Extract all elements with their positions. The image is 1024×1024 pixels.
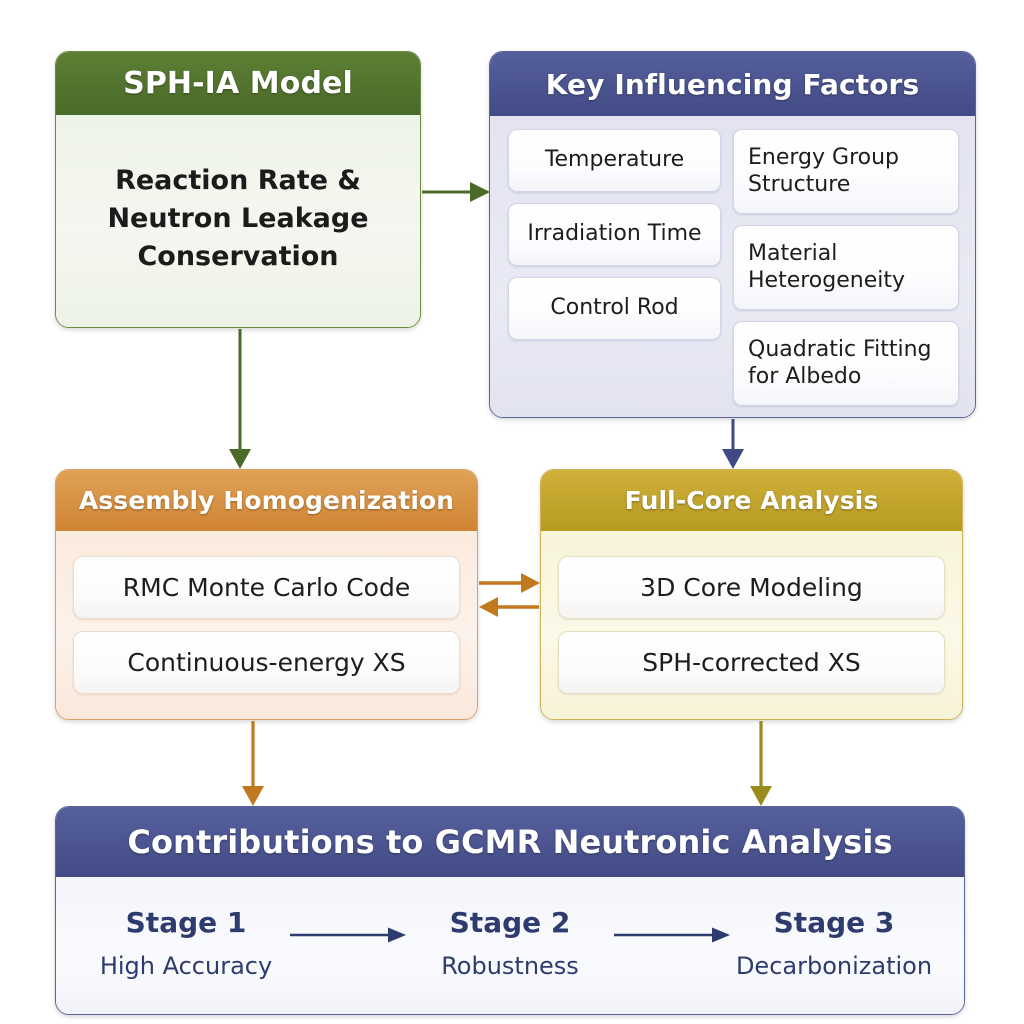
contributions-header: Contributions to GCMR Neutronic Analysis xyxy=(56,807,964,877)
key-influencing-factors-header: Key Influencing Factors xyxy=(490,52,975,116)
factor-chip-quadratic-fitting-for-albedo[interactable]: Quadratic Fitting for Albedo xyxy=(733,321,959,406)
sph-ia-model-body: Reaction Rate & Neutron Leakage Conserva… xyxy=(56,115,420,328)
connector-sph-to-assembly xyxy=(229,329,251,469)
contributions-body: Stage 1 High Accuracy Stage 2 Robustness xyxy=(56,877,964,1015)
stage-2-subtitle: Robustness xyxy=(441,953,579,979)
stage-block-3: Stage 3 Decarbonization xyxy=(734,908,934,979)
assembly-homogenization-card: Assembly Homogenization RMC Monte Carlo … xyxy=(55,469,478,720)
stage-3-title: Stage 3 xyxy=(774,908,895,939)
sph-ia-model-card: SPH-IA Model Reaction Rate & Neutron Lea… xyxy=(55,51,421,328)
stage-sequence: Stage 1 High Accuracy Stage 2 Robustness xyxy=(86,908,934,979)
key-influencing-factors-body: Temperature Irradiation Time Control Rod… xyxy=(490,116,975,418)
stage-block-1: Stage 1 High Accuracy xyxy=(86,908,286,979)
full-core-analysis-body: 3D Core Modeling SPH-corrected XS xyxy=(541,531,962,720)
sph-ia-model-body-text: Reaction Rate & Neutron Leakage Conserva… xyxy=(107,162,368,277)
stage-2-title: Stage 2 xyxy=(450,908,571,939)
key-factors-left-column: Temperature Irradiation Time Control Rod xyxy=(508,129,721,407)
factor-chip-temperature[interactable]: Temperature xyxy=(508,129,721,192)
connector-full-core-to-contributions xyxy=(750,721,772,806)
full-core-analysis-header: Full-Core Analysis xyxy=(541,470,962,531)
arrow-right-icon xyxy=(612,923,732,947)
assembly-homogenization-header: Assembly Homogenization xyxy=(56,470,477,531)
assembly-item-continuous-energy-xs[interactable]: Continuous-energy XS xyxy=(73,631,460,694)
assembly-item-rmc-monte-carlo-code[interactable]: RMC Monte Carlo Code xyxy=(73,556,460,619)
sph-ia-model-header: SPH-IA Model xyxy=(56,52,420,115)
connector-assembly-to-contributions xyxy=(242,721,264,806)
stage-1-title: Stage 1 xyxy=(126,908,247,939)
diagram-canvas: SPH-IA Model Reaction Rate & Neutron Lea… xyxy=(0,0,1024,1024)
factor-chip-irradiation-time[interactable]: Irradiation Time xyxy=(508,203,721,266)
full-core-analysis-card: Full-Core Analysis 3D Core Modeling SPH-… xyxy=(540,469,963,720)
arrow-right-icon xyxy=(288,923,408,947)
full-core-item-sph-corrected-xs[interactable]: SPH-corrected XS xyxy=(558,631,945,694)
key-influencing-factors-card: Key Influencing Factors Temperature Irra… xyxy=(489,51,976,418)
full-core-item-3d-core-modeling[interactable]: 3D Core Modeling xyxy=(558,556,945,619)
connector-key-factors-to-full-core xyxy=(722,419,744,469)
assembly-homogenization-body: RMC Monte Carlo Code Continuous-energy X… xyxy=(56,531,477,720)
connector-assembly-to-full-core xyxy=(479,573,540,593)
key-factors-right-column: Energy Group Structure Material Heteroge… xyxy=(733,129,959,407)
contributions-card: Contributions to GCMR Neutronic Analysis… xyxy=(55,806,965,1015)
stage-arrow-2-to-3 xyxy=(612,913,732,975)
stage-1-subtitle: High Accuracy xyxy=(100,953,272,979)
factor-chip-energy-group-structure[interactable]: Energy Group Structure xyxy=(733,129,959,214)
stage-arrow-1-to-2 xyxy=(288,913,408,975)
factor-chip-control-rod[interactable]: Control Rod xyxy=(508,277,721,340)
factor-chip-material-heterogeneity[interactable]: Material Heterogeneity xyxy=(733,225,959,310)
stage-3-subtitle: Decarbonization xyxy=(736,953,932,979)
connector-full-core-to-assembly xyxy=(479,597,539,617)
connector-sph-to-key-factors xyxy=(422,182,490,202)
stage-block-2: Stage 2 Robustness xyxy=(410,908,610,979)
